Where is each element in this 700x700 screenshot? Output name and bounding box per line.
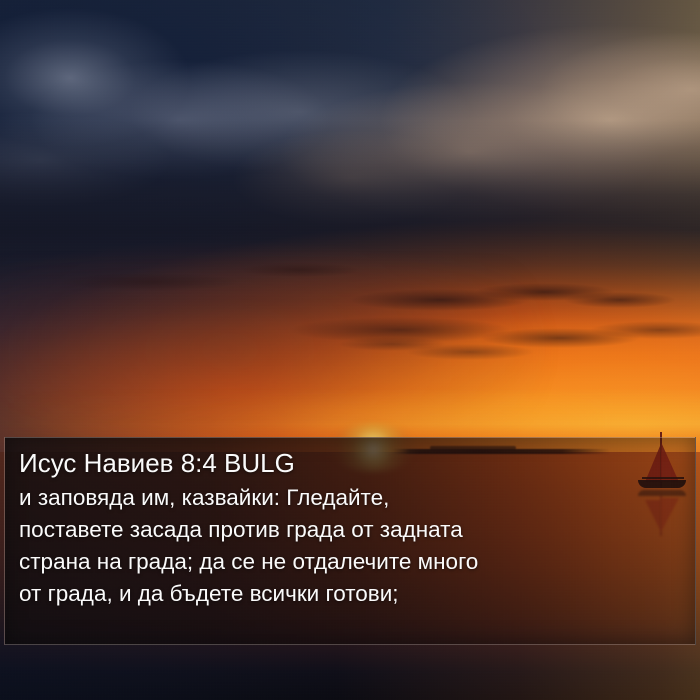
verse-line: и заповяда им, казвайки: Гледайте, [19,482,681,514]
verse-line: страна на града; да се не отдалечите мно… [19,546,681,578]
verse-reference-title: Исус Навиев 8:4 BULG [19,444,681,482]
verse-line: от града, и да бъдете всички готови; [19,578,681,610]
verse-body-text: и заповяда им, казвайки: Гледайте, поста… [19,482,681,610]
verse-text-overlay: Исус Навиев 8:4 BULG и заповяда им, казв… [4,437,696,645]
verse-line: поставете засада против града от задната [19,514,681,546]
verse-image-scene: Исус Навиев 8:4 BULG и заповяда им, казв… [0,0,700,700]
